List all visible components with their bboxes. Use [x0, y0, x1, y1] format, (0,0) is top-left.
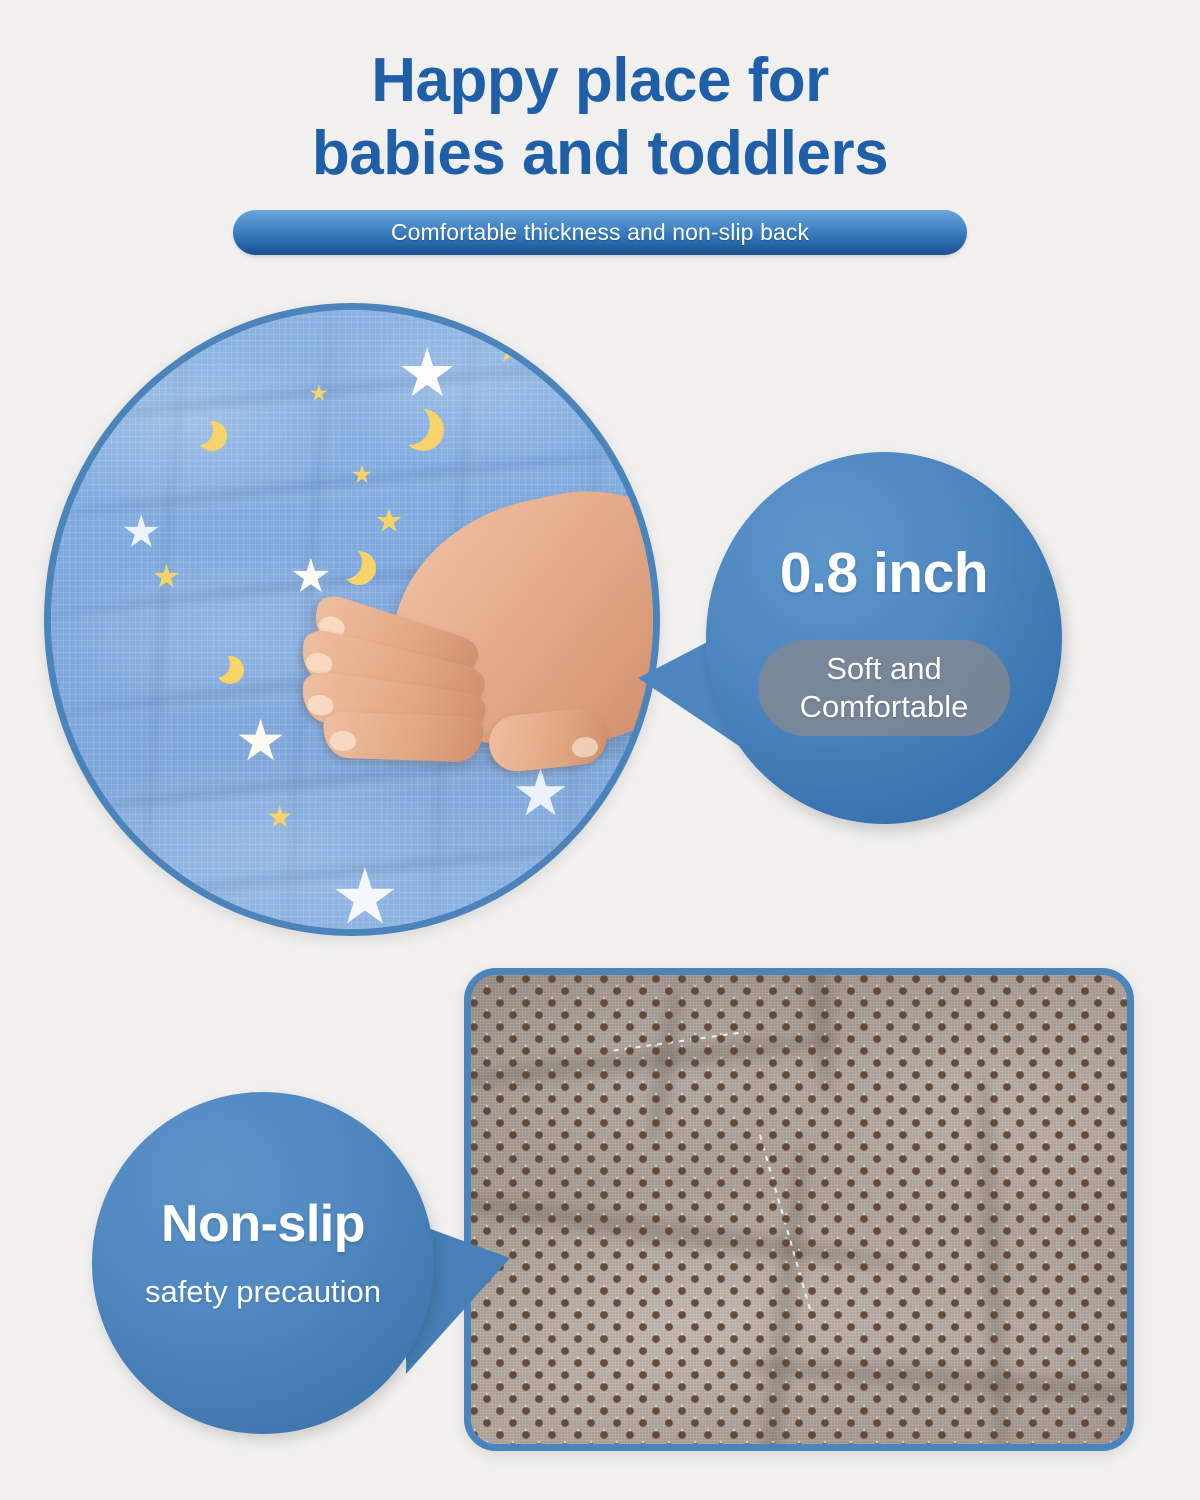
- thickness-sub-line-2: Comfortable: [800, 688, 969, 726]
- product-feature-page: Happy place for babies and toddlers Comf…: [0, 0, 1200, 1500]
- nonslip-backing-fabric: [471, 975, 1127, 1444]
- thickness-callout: 0.8 inch Soft and Comfortable: [706, 452, 1062, 824]
- nonslip-photo: [464, 968, 1134, 1451]
- thickness-photo: [44, 303, 660, 936]
- nonslip-callout: Non-slip safety precaution: [92, 1092, 434, 1434]
- quilted-pad-fabric: [51, 310, 653, 929]
- thickness-value: 0.8 inch: [706, 540, 1062, 606]
- nonslip-subtitle: safety precaution: [78, 1274, 448, 1310]
- fingernail: [329, 730, 356, 751]
- subtitle-text: Comfortable thickness and non-slip back: [391, 219, 809, 246]
- callout-bubble: [92, 1092, 434, 1434]
- fingernail: [306, 693, 335, 716]
- headline-line-1: Happy place for: [0, 44, 1200, 117]
- moon-motif: [202, 650, 230, 678]
- page-title: Happy place for babies and toddlers: [0, 44, 1200, 190]
- thickness-sub-pill: Soft and Comfortable: [758, 640, 1010, 736]
- headline-line-2: babies and toddlers: [0, 117, 1200, 190]
- nonslip-title: Non-slip: [92, 1194, 434, 1254]
- finger: [322, 711, 484, 763]
- silicone-dot-grid-offset: [464, 968, 1134, 1451]
- callout-bubble: [706, 452, 1062, 824]
- subtitle-banner: Comfortable thickness and non-slip back: [233, 210, 967, 255]
- thickness-sub-line-1: Soft and: [826, 650, 941, 688]
- fingernail: [571, 736, 599, 759]
- hand-pressing: [279, 498, 660, 828]
- moon-motif: [388, 403, 430, 445]
